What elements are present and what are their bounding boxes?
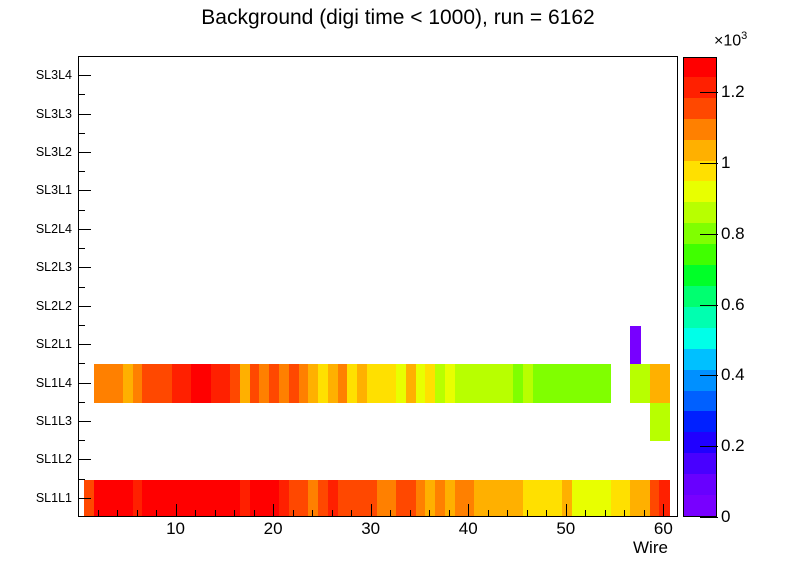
y-axis-minor-tick (78, 325, 85, 326)
x-axis-minor-tick (449, 510, 450, 517)
y-axis-minor-tick (78, 402, 85, 403)
y-axis-minor-tick (78, 248, 85, 249)
colorbar-segment (684, 118, 716, 140)
x-axis-tick-label: 30 (361, 519, 380, 539)
x-axis-minor-tick (312, 510, 313, 517)
y-axis-label-sl3l3: SL3L3 (36, 107, 72, 121)
colorbar-segment (684, 453, 716, 475)
y-axis-tick (78, 344, 91, 345)
x-axis-tick-label: 40 (459, 519, 478, 539)
x-axis-tick-label: 50 (556, 519, 575, 539)
plot-frame (78, 56, 678, 517)
x-axis-minor-tick (332, 510, 333, 517)
x-axis-tick (663, 504, 664, 517)
colorbar-tick-label: 0.4 (721, 365, 745, 385)
root-canvas: Background (digi time < 1000), run = 616… (0, 0, 796, 572)
y-axis-tick (78, 267, 91, 268)
x-axis-minor-tick (605, 510, 606, 517)
colorbar-tick (700, 92, 718, 93)
y-axis-tick (78, 498, 91, 499)
y-axis-label-sl1l2: SL1L2 (36, 452, 72, 466)
heatmap-cell (659, 480, 669, 516)
colorbar-segment (684, 97, 716, 119)
colorbar-tick-label: 0.6 (721, 295, 745, 315)
colorbar-segment (684, 432, 716, 454)
y-axis-label-sl1l3: SL1L3 (36, 414, 72, 428)
x-axis-tick (176, 504, 177, 517)
x-axis-minor-tick (215, 510, 216, 517)
y-axis-minor-tick (78, 440, 85, 441)
heatmap-cell (659, 403, 669, 441)
x-axis-minor-tick (507, 510, 508, 517)
heatmap-cell (659, 364, 669, 402)
y-axis-tick (78, 459, 91, 460)
colorbar-segment (684, 76, 716, 98)
y-axis-tick (78, 152, 91, 153)
x-axis-minor-tick (137, 510, 138, 517)
x-axis-minor-tick (546, 510, 547, 517)
colorbar-segment (684, 495, 716, 517)
x-axis-title: Wire (633, 538, 668, 558)
x-axis-minor-tick (410, 510, 411, 517)
colorbar-tick (700, 517, 718, 518)
colorbar-segment (684, 57, 716, 77)
heatmap-cells (79, 57, 677, 516)
y-axis-tick (78, 229, 91, 230)
x-axis-minor-tick (429, 510, 430, 517)
x-axis-minor-tick (117, 510, 118, 517)
colorbar-segment (684, 474, 716, 496)
y-axis-label-sl2l2: SL2L2 (36, 299, 72, 313)
page-title: Background (digi time < 1000), run = 616… (0, 6, 796, 30)
colorbar-tick (700, 305, 718, 306)
y-axis-label-sl2l4: SL2L4 (36, 222, 72, 236)
colorbar-tick-label: 1 (721, 153, 730, 173)
colorbar-exponent: ×103 (714, 30, 747, 50)
y-axis-tick (78, 75, 91, 76)
y-axis-label-sl2l1: SL2L1 (36, 337, 72, 351)
colorbar-tick (700, 234, 718, 235)
y-axis-minor-tick (78, 94, 85, 95)
y-axis-label-sl3l2: SL3L2 (36, 145, 72, 159)
x-axis-minor-tick (351, 510, 352, 517)
y-axis-tick (78, 383, 91, 384)
x-axis-minor-tick (585, 510, 586, 517)
heatmap-cell (601, 364, 611, 402)
y-axis-label-sl3l4: SL3L4 (36, 68, 72, 82)
colorbar-exponent-power: 3 (741, 30, 747, 42)
x-axis-minor-tick (98, 510, 99, 517)
x-axis-tick-label: 10 (166, 519, 185, 539)
colorbar-tick-label: 0.2 (721, 436, 745, 456)
colorbar-segment (684, 202, 716, 224)
y-axis-label-sl2l3: SL2L3 (36, 260, 72, 274)
x-axis-minor-tick (234, 510, 235, 517)
x-axis-minor-tick (195, 510, 196, 517)
x-axis-minor-tick (156, 510, 157, 517)
colorbar-segment (684, 285, 716, 307)
colorbar-segment (684, 348, 716, 370)
y-axis-label-sl1l4: SL1L4 (36, 376, 72, 390)
colorbar-tick-label: 0.8 (721, 224, 745, 244)
colorbar-tick (700, 446, 718, 447)
y-axis-tick (78, 190, 91, 191)
y-axis-minor-tick (78, 210, 85, 211)
x-axis-minor-tick (527, 510, 528, 517)
colorbar-segment (684, 265, 716, 287)
x-axis-minor-tick (624, 510, 625, 517)
x-axis-minor-tick (254, 510, 255, 517)
colorbar-tick (700, 375, 718, 376)
colorbar-segment (684, 369, 716, 391)
colorbar-tick (700, 163, 718, 164)
y-axis-minor-tick (78, 287, 85, 288)
colorbar-tick-label: 0 (721, 507, 730, 527)
x-axis-tick (371, 504, 372, 517)
x-axis-tick-label: 20 (264, 519, 283, 539)
colorbar-segment (684, 306, 716, 328)
x-axis-minor-tick (488, 510, 489, 517)
x-axis-tick-label: 60 (654, 519, 673, 539)
y-axis-tick (78, 306, 91, 307)
x-axis-tick (468, 504, 469, 517)
x-axis-tick (566, 504, 567, 517)
heatmap-cell (630, 326, 640, 364)
colorbar-segment (684, 139, 716, 161)
colorbar-exponent-base: ×10 (714, 32, 741, 49)
colorbar-segment (684, 327, 716, 349)
x-axis-minor-tick (293, 510, 294, 517)
y-axis-label-sl3l1: SL3L1 (36, 183, 72, 197)
y-axis-minor-tick (78, 133, 85, 134)
colorbar-segment (684, 181, 716, 203)
colorbar-segment (684, 244, 716, 266)
colorbar-segment (684, 411, 716, 433)
x-axis-tick (273, 504, 274, 517)
x-axis-minor-tick (644, 510, 645, 517)
y-axis-label-sl1l1: SL1L1 (36, 491, 72, 505)
colorbar (683, 57, 717, 517)
y-axis-tick (78, 114, 91, 115)
y-axis-minor-tick (78, 479, 85, 480)
y-axis-minor-tick (78, 363, 85, 364)
y-axis-minor-tick (78, 171, 85, 172)
colorbar-segment (684, 390, 716, 412)
y-axis-tick (78, 421, 91, 422)
colorbar-tick-label: 1.2 (721, 82, 745, 102)
x-axis-minor-tick (390, 510, 391, 517)
